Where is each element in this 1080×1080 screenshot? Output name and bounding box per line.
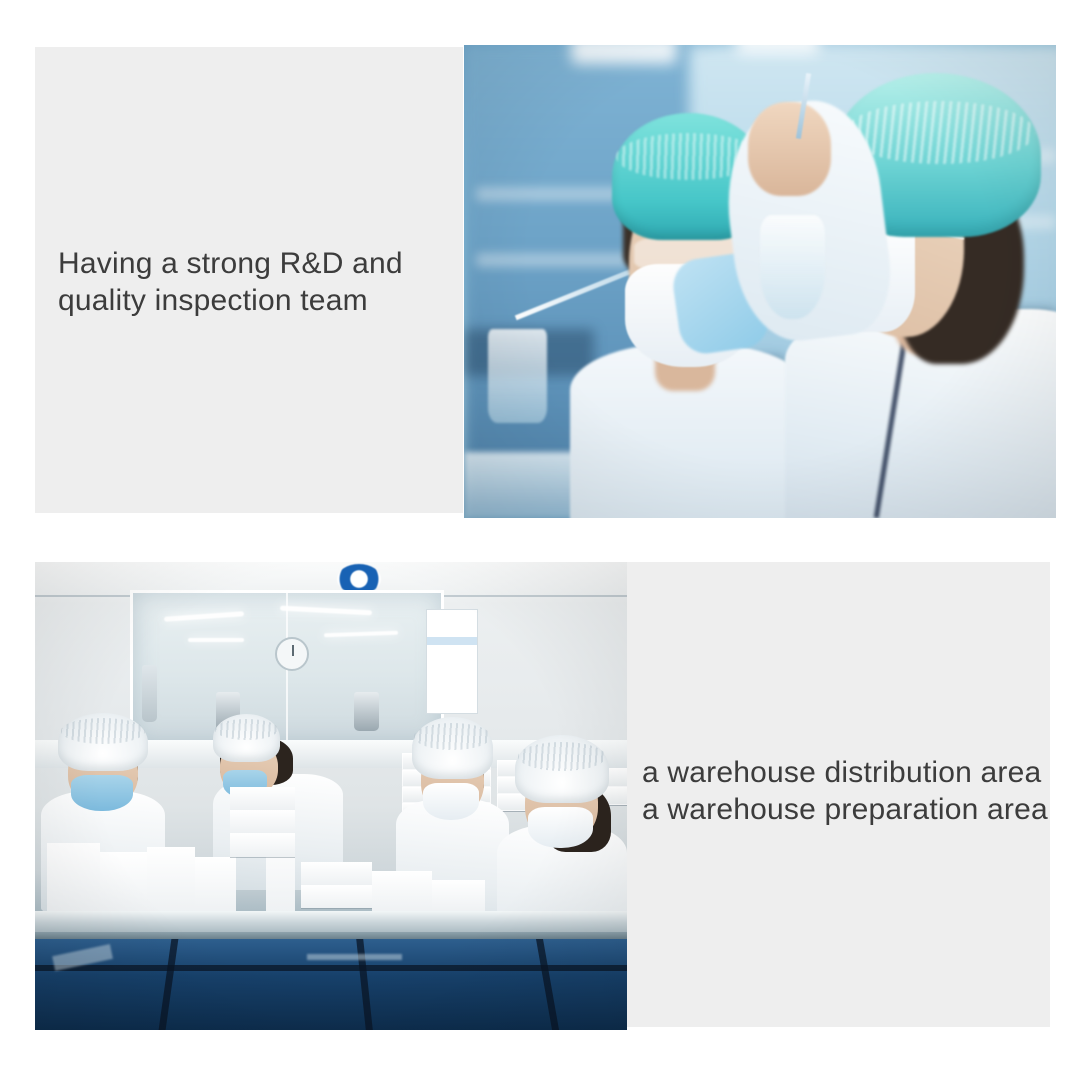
slide-canvas: Having a strong R&D and quality inspecti… <box>0 0 1080 1080</box>
carton <box>230 833 295 856</box>
lab-quality-inspection-photo <box>464 45 1056 518</box>
carton <box>147 847 194 913</box>
warehouse-packing-photo <box>35 562 627 1030</box>
wall-clock <box>275 637 309 671</box>
floor-highlight <box>307 954 402 960</box>
carton <box>230 810 295 833</box>
carton <box>432 880 485 913</box>
wall-notice-poster <box>426 609 478 714</box>
cart-leg <box>536 939 559 1030</box>
hairnet-ruffle <box>61 718 146 744</box>
carton <box>100 852 147 913</box>
wall-cabinet <box>142 665 157 722</box>
carton <box>301 885 372 908</box>
glass-flask <box>760 215 825 319</box>
carton <box>47 843 100 913</box>
carton <box>230 787 295 810</box>
face-mask <box>423 783 479 820</box>
bottom-caption-line-1: a warehouse distribution area <box>642 754 1041 791</box>
cart-leg <box>159 939 179 1030</box>
top-caption-line-1: Having a strong R&D and <box>58 245 403 282</box>
blue-floor-and-cart <box>35 939 627 1030</box>
lab-ceiling-light <box>736 45 819 54</box>
carton <box>195 857 236 913</box>
top-caption-line-2: quality inspection team <box>58 282 368 319</box>
face-mask <box>528 807 593 847</box>
hairnet-ruffle <box>845 101 1036 165</box>
stainless-vessel <box>354 692 379 731</box>
carton <box>301 862 372 885</box>
bottom-caption-line-2: a warehouse preparation area <box>642 791 1048 828</box>
stainless-steel-table <box>35 911 627 932</box>
lab-ceiling-light <box>571 45 678 64</box>
cart-rail <box>35 965 627 971</box>
face-mask <box>71 775 133 810</box>
carton <box>372 871 431 913</box>
hairnet-ruffle <box>215 719 278 740</box>
ceiling-strip-light <box>188 638 243 642</box>
lab-beaker <box>488 329 547 424</box>
hairnet-ruffle <box>414 723 490 750</box>
gloved-hand <box>748 102 831 197</box>
